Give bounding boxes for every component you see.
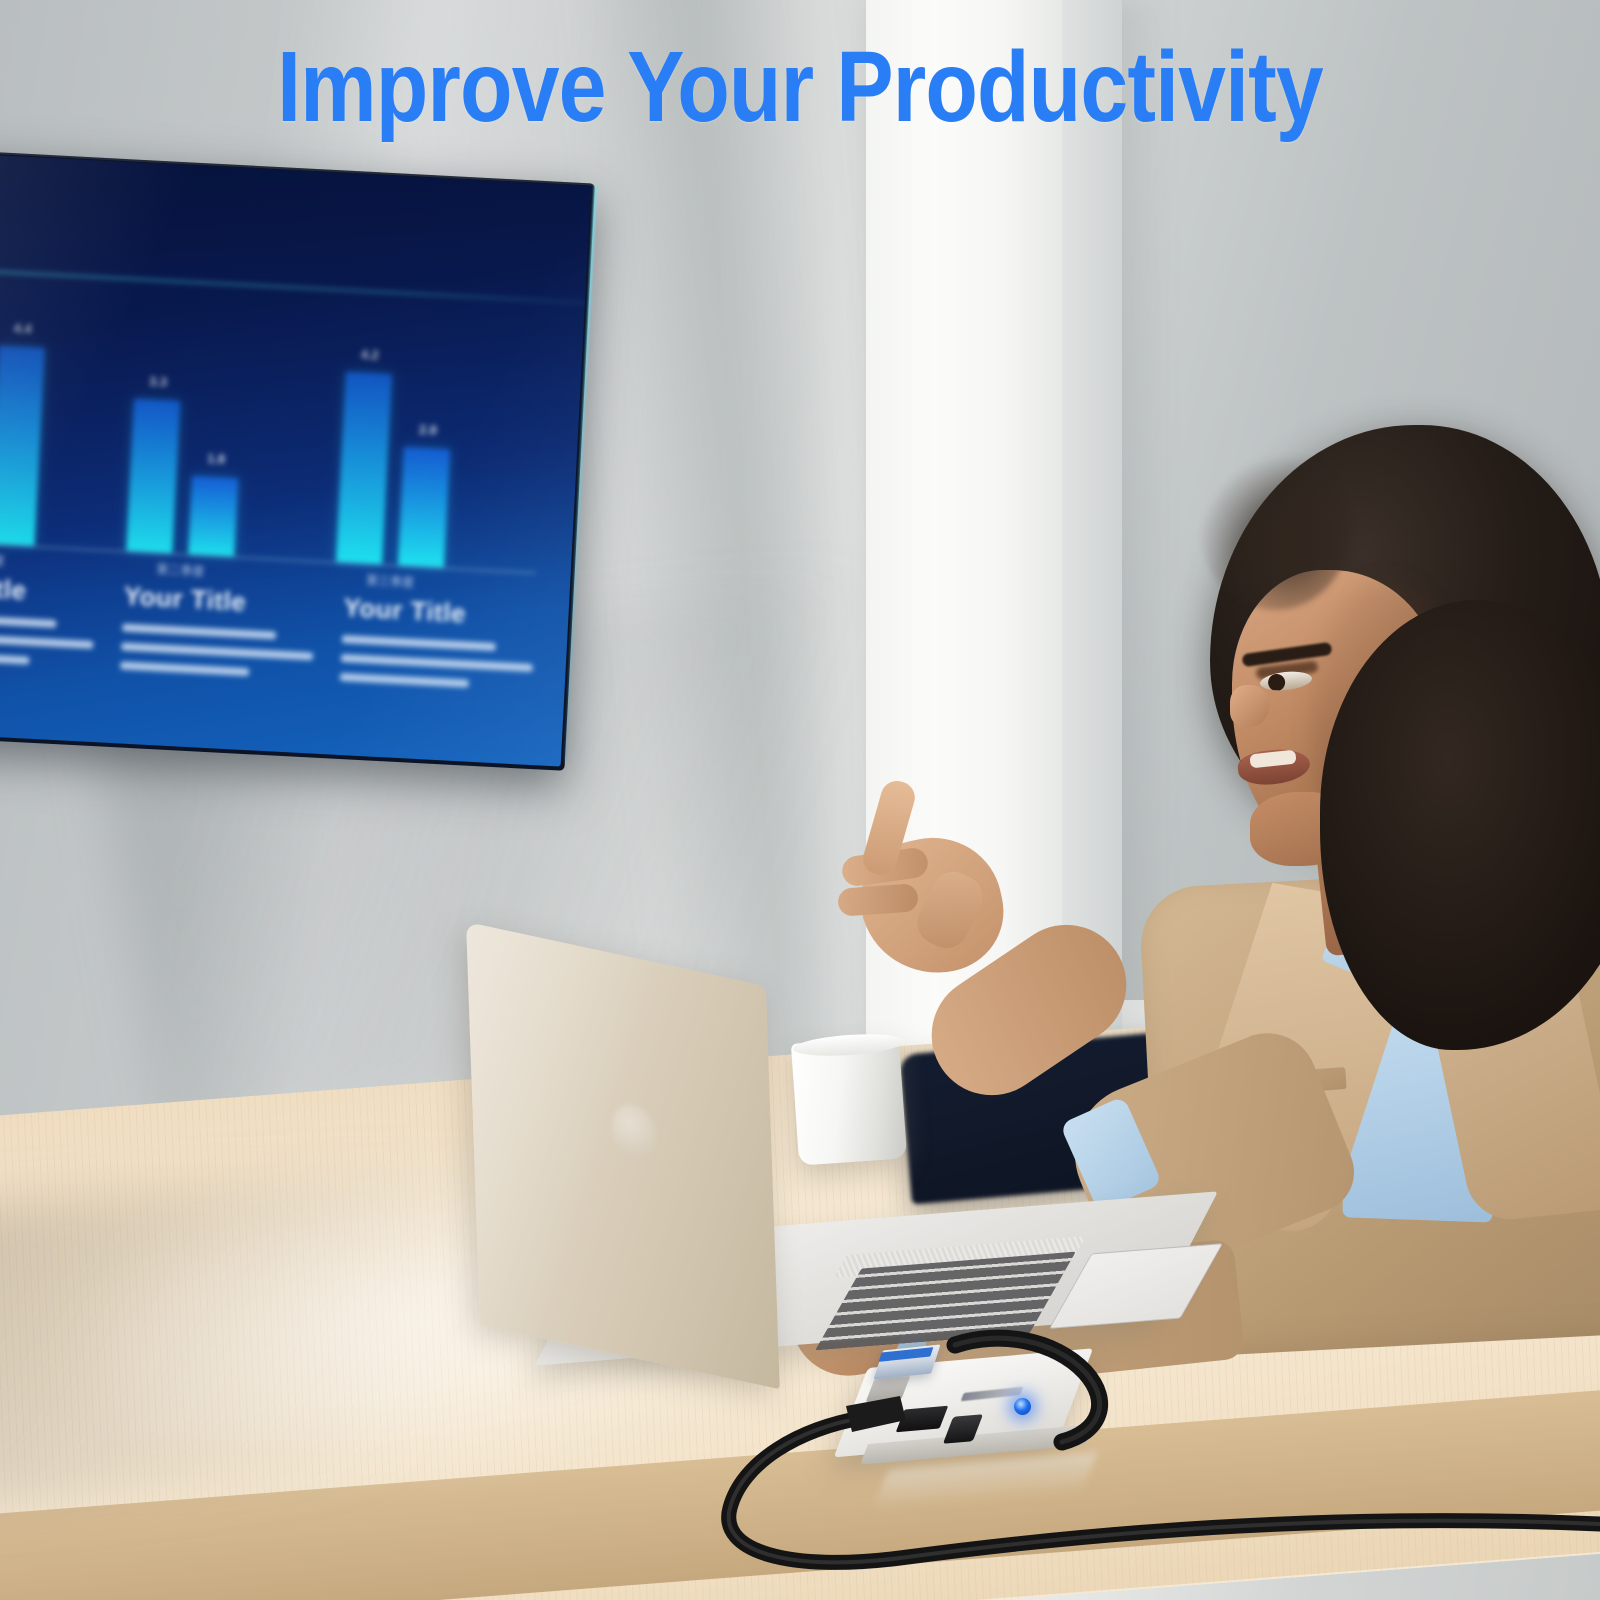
finger — [837, 883, 919, 917]
person-seated — [1110, 420, 1600, 1320]
laptop-lid-highlight — [466, 922, 780, 1390]
wall-mounted-tv: 3.1 4.4 第一季度 3.3 1.8 — [0, 150, 595, 771]
product-lifestyle-image: 3.1 4.4 第一季度 3.3 1.8 — [0, 0, 1600, 1600]
hub-led-indicator — [1014, 1398, 1031, 1415]
hair-wisp — [1200, 450, 1350, 610]
tv-vignette — [0, 153, 591, 766]
tv-screen: 3.1 4.4 第一季度 3.3 1.8 — [0, 153, 591, 766]
page-title: Improve Your Productivity — [112, 36, 1488, 138]
iris — [1267, 673, 1286, 692]
hair-volume — [1320, 600, 1600, 1050]
coffee-cup — [791, 1036, 907, 1165]
